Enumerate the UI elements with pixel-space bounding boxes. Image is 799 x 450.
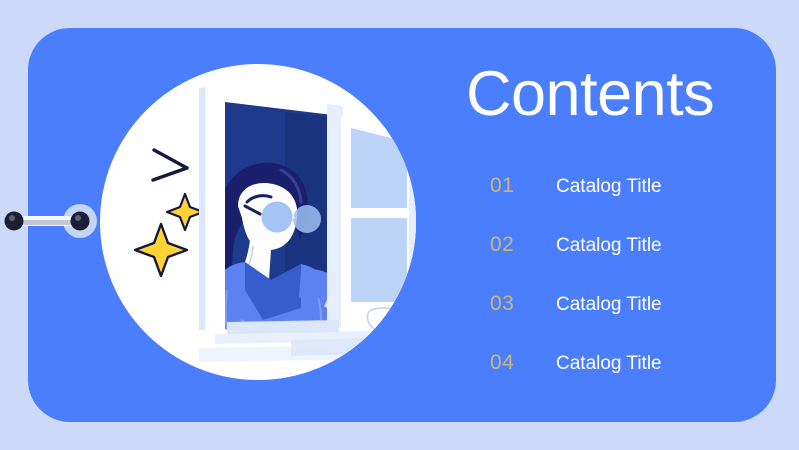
contents-panel: Contents 01 Catalog Title 02 Catalog Tit… [466, 62, 766, 392]
table-of-contents-list: 01 Catalog Title 02 Catalog Title 03 Cat… [490, 174, 770, 410]
toc-number: 01 [490, 174, 556, 198]
toc-number: 03 [490, 292, 556, 316]
toc-label[interactable]: Catalog Title [556, 176, 662, 198]
open-window-pane [341, 116, 417, 330]
list-item[interactable]: 02 Catalog Title [490, 233, 770, 292]
toc-label[interactable]: Catalog Title [556, 294, 662, 316]
woman-reading-at-window-illustration [95, 58, 425, 388]
window-sill [199, 320, 425, 362]
dumbbell-handle-icon [0, 203, 100, 239]
page-title: Contents [466, 62, 766, 126]
list-item[interactable]: 01 Catalog Title [490, 174, 770, 233]
toc-label[interactable]: Catalog Title [556, 353, 662, 375]
slide-canvas: Contents 01 Catalog Title 02 Catalog Tit… [0, 0, 799, 450]
toc-number: 02 [490, 233, 556, 257]
list-item[interactable]: 03 Catalog Title [490, 292, 770, 351]
toc-label[interactable]: Catalog Title [556, 235, 662, 257]
hand-on-book [367, 308, 407, 335]
toc-number: 04 [490, 351, 556, 375]
list-item[interactable]: 04 Catalog Title [490, 351, 770, 410]
